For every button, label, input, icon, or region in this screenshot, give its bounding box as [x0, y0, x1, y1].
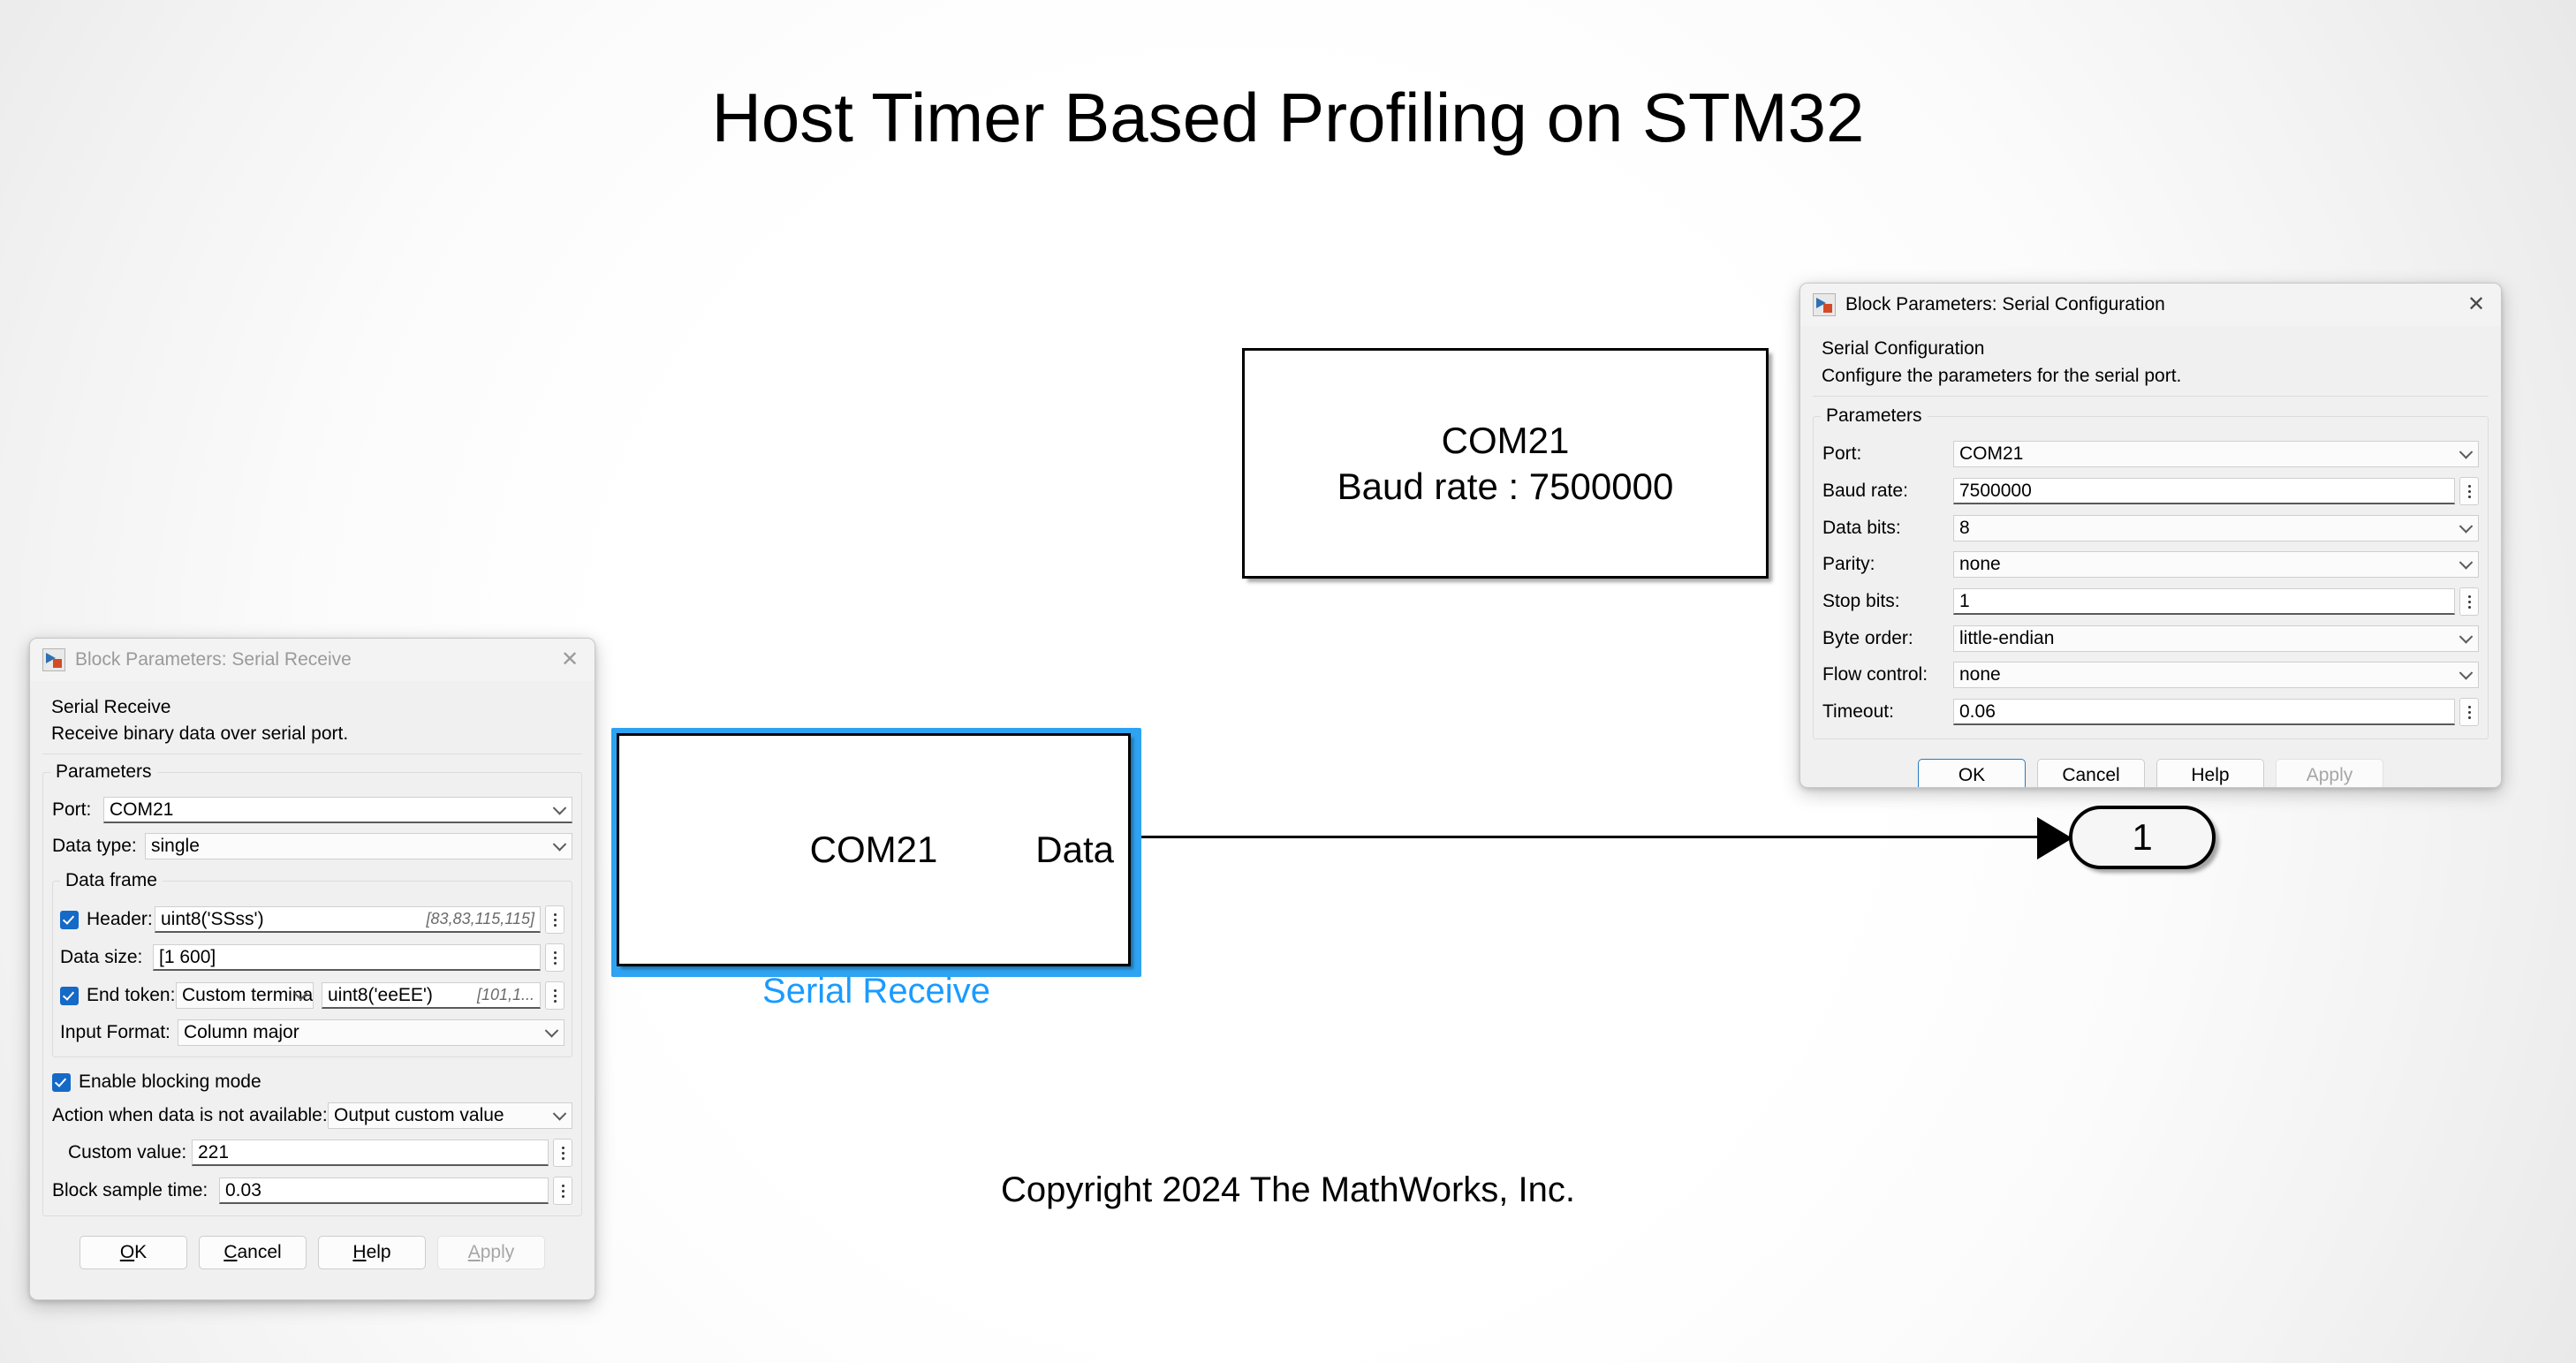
chevron-down-icon: [553, 801, 567, 815]
custom-value-more-button[interactable]: [553, 1139, 572, 1167]
end-token-mode-combobox[interactable]: Custom terminator: [176, 982, 314, 1009]
input-format-value: Column major: [184, 1022, 299, 1043]
dialog-serial-receive-titlebar[interactable]: Block Parameters: Serial Receive ✕: [30, 639, 595, 681]
enable-blocking-label: Enable blocking mode: [79, 1071, 261, 1093]
block-serial-receive-output-port-label: Data: [1035, 829, 1114, 871]
parameters-group: Parameters Port: COM21 Data type: single…: [42, 772, 582, 1216]
data-frame-group: Data frame Header: uint8('SSss') [83,83,…: [52, 881, 572, 1057]
header-value: uint8('SSss'): [161, 909, 264, 930]
block-description-text: Configure the parameters for the serial …: [1822, 366, 2480, 387]
chevron-down-icon: [2459, 556, 2474, 570]
block-outport-number: 1: [2132, 816, 2152, 859]
byte-order-combobox[interactable]: little-endian: [1953, 625, 2479, 652]
parity-value: none: [1959, 554, 2001, 575]
data-bits-value: 8: [1959, 518, 1970, 539]
row-enable-blocking: Enable blocking mode: [52, 1071, 572, 1093]
port-label: Port:: [52, 799, 103, 821]
stop-bits-label: Stop bits:: [1822, 591, 1953, 612]
parameters-legend: Parameters: [1821, 405, 1928, 427]
baud-rate-value: 7500000: [1959, 481, 2032, 502]
end-token-value: uint8('eeEE'): [328, 985, 433, 1006]
block-description-name: Serial Receive: [51, 697, 573, 718]
row-input-format: Input Format: Column major: [60, 1019, 564, 1046]
dialog-serial-configuration-buttons: OK Cancel Help Apply: [1813, 746, 2489, 788]
model-title: Host Timer Based Profiling on STM32: [0, 78, 2576, 158]
sample-time-input[interactable]: 0.03: [219, 1177, 549, 1204]
sample-time-more-button[interactable]: [553, 1177, 572, 1205]
block-description-text: Receive binary data over serial port.: [51, 723, 573, 745]
row-byte-order: Byte order: little-endian: [1822, 625, 2479, 652]
port-combobox[interactable]: COM21: [1953, 441, 2479, 467]
end-token-label: End token:: [87, 985, 176, 1006]
custom-value: 221: [198, 1142, 229, 1163]
header-checkbox[interactable]: [60, 911, 79, 929]
timeout-value: 0.06: [1959, 701, 1996, 723]
stop-bits-more-button[interactable]: [2459, 587, 2479, 616]
header-more-button[interactable]: [545, 905, 564, 934]
baud-rate-input[interactable]: 7500000: [1953, 478, 2455, 504]
cancel-button-rest: ancel: [237, 1242, 281, 1262]
action-label: Action when data is not available:: [52, 1105, 328, 1126]
baud-rate-label: Baud rate:: [1822, 481, 1953, 502]
chevron-down-icon: [2459, 445, 2474, 459]
data-bits-label: Data bits:: [1822, 518, 1953, 539]
byte-order-value: little-endian: [1959, 628, 2054, 649]
ok-button[interactable]: OK: [80, 1236, 187, 1269]
byte-order-label: Byte order:: [1822, 628, 1953, 649]
row-data-bits: Data bits: 8: [1822, 515, 2479, 541]
signal-arrow-icon: [2037, 817, 2072, 859]
block-serial-receive-label: Serial Receive: [611, 972, 1141, 1011]
custom-value-label: Custom value:: [52, 1142, 192, 1163]
timeout-input[interactable]: 0.06: [1953, 699, 2455, 725]
sample-time-label: Block sample time:: [52, 1180, 219, 1201]
port-label: Port:: [1822, 443, 1953, 465]
help-button-rest: elp: [367, 1242, 391, 1262]
chevron-down-icon: [545, 1024, 559, 1038]
dialog-serial-receive-title: Block Parameters: Serial Receive: [75, 649, 352, 670]
block-serial-configuration-line1: COM21: [1442, 418, 1570, 463]
parameters-group: Parameters Port: COM21 Baud rate: 750000…: [1813, 416, 2489, 739]
input-format-combobox[interactable]: Column major: [178, 1019, 564, 1046]
flow-control-value: none: [1959, 664, 2001, 685]
port-value: COM21: [1959, 443, 2023, 465]
help-button[interactable]: Help: [318, 1236, 426, 1269]
ok-button-rest: K: [134, 1242, 147, 1262]
data-frame-legend: Data frame: [60, 870, 163, 891]
input-format-label: Input Format:: [60, 1022, 178, 1043]
header-label: Header:: [87, 909, 155, 930]
timeout-label: Timeout:: [1822, 701, 1953, 723]
block-outport[interactable]: 1: [2069, 806, 2216, 869]
block-serial-receive[interactable]: COM21 Data: [617, 733, 1131, 966]
flow-control-combobox[interactable]: none: [1953, 662, 2479, 688]
help-button[interactable]: Help: [2156, 759, 2264, 788]
row-timeout: Timeout: 0.06: [1822, 698, 2479, 726]
data-size-more-button[interactable]: [545, 943, 564, 972]
sample-time-value: 0.03: [225, 1180, 261, 1201]
end-token-checkbox[interactable]: [60, 987, 79, 1005]
data-type-value: single: [151, 836, 200, 857]
block-description-group: Serial Receive Receive binary data over …: [42, 692, 582, 754]
flow-control-label: Flow control:: [1822, 664, 1953, 685]
row-port: Port: COM21: [52, 797, 572, 823]
block-serial-configuration[interactable]: COM21 Baud rate : 7500000: [1242, 348, 1769, 579]
header-input[interactable]: uint8('SSss') [83,83,115,115]: [155, 906, 541, 933]
row-end-token: End token: Custom terminator uint8('eeEE…: [60, 981, 564, 1010]
custom-value-input[interactable]: 221: [192, 1140, 549, 1166]
parity-combobox[interactable]: none: [1953, 551, 2479, 578]
dialog-serial-configuration-titlebar[interactable]: Block Parameters: Serial Configuration ✕: [1800, 284, 2501, 326]
row-port: Port: COM21: [1822, 441, 2479, 467]
block-serial-configuration-line2: Baud rate : 7500000: [1337, 464, 1674, 509]
baud-rate-more-button[interactable]: [2459, 477, 2479, 505]
row-sample-time: Block sample time: 0.03: [52, 1177, 572, 1205]
action-combobox[interactable]: Output custom value: [328, 1102, 572, 1129]
enable-blocking-checkbox[interactable]: [52, 1073, 71, 1092]
close-icon[interactable]: ✕: [545, 639, 595, 681]
row-action-not-available: Action when data is not available: Outpu…: [52, 1102, 572, 1129]
ok-button[interactable]: OK: [1918, 759, 2026, 788]
parity-label: Parity:: [1822, 554, 1953, 575]
dialog-serial-receive[interactable]: Block Parameters: Serial Receive ✕ Seria…: [29, 638, 595, 1300]
block-serial-receive-selection[interactable]: COM21 Data: [611, 728, 1141, 977]
simulink-icon: [42, 648, 65, 671]
end-token-mode-value: Custom terminator: [182, 985, 314, 1006]
chevron-down-icon: [553, 1107, 567, 1121]
row-data-type: Data type: single: [52, 833, 572, 859]
row-header: Header: uint8('SSss') [83,83,115,115]: [60, 905, 564, 934]
port-value: COM21: [110, 799, 173, 821]
data-size-value: [1 600]: [159, 947, 216, 968]
data-bits-combobox[interactable]: 8: [1953, 515, 2479, 541]
cancel-button[interactable]: Cancel: [199, 1236, 307, 1269]
apply-button-rest: pply: [481, 1242, 515, 1262]
signal-line[interactable]: [1141, 836, 2042, 838]
row-data-size: Data size: [1 600]: [60, 943, 564, 972]
data-size-label: Data size:: [60, 947, 153, 968]
row-parity: Parity: none: [1822, 551, 2479, 578]
data-type-label: Data type:: [52, 836, 145, 857]
dialog-serial-receive-buttons: OK Cancel Help Apply: [42, 1223, 582, 1283]
end-token-more-button[interactable]: [545, 981, 564, 1010]
end-token-hint: [101,1...: [470, 986, 534, 1004]
header-hint: [83,83,115,115]: [420, 910, 534, 928]
close-icon[interactable]: ✕: [2451, 284, 2501, 326]
action-value: Output custom value: [334, 1105, 504, 1126]
data-size-input[interactable]: [1 600]: [153, 944, 541, 971]
chevron-down-icon: [2459, 666, 2474, 680]
row-stop-bits: Stop bits: 1: [1822, 587, 2479, 616]
simulink-icon: [1813, 293, 1836, 316]
apply-button: Apply: [437, 1236, 545, 1269]
dialog-serial-receive-body: Serial Receive Receive binary data over …: [30, 692, 595, 1283]
apply-button: Apply: [2276, 759, 2383, 788]
end-token-input[interactable]: uint8('eeEE') [101,1...: [322, 982, 541, 1009]
row-baud-rate: Baud rate: 7500000: [1822, 477, 2479, 505]
data-type-combobox[interactable]: single: [145, 833, 572, 859]
block-description-name: Serial Configuration: [1822, 338, 2480, 360]
stop-bits-value: 1: [1959, 591, 1970, 612]
chevron-down-icon: [2459, 519, 2474, 534]
dialog-serial-configuration[interactable]: Block Parameters: Serial Configuration ✕…: [1799, 283, 2502, 788]
timeout-more-button[interactable]: [2459, 698, 2479, 726]
cancel-button[interactable]: Cancel: [2037, 759, 2145, 788]
parameters-legend: Parameters: [50, 761, 157, 783]
stop-bits-input[interactable]: 1: [1953, 588, 2455, 615]
dialog-serial-configuration-title: Block Parameters: Serial Configuration: [1845, 294, 2165, 315]
chevron-down-icon: [2459, 630, 2474, 644]
dialog-serial-configuration-body: Serial Configuration Configure the param…: [1800, 335, 2501, 788]
port-combobox[interactable]: COM21: [103, 797, 572, 823]
block-description-group: Serial Configuration Configure the param…: [1813, 335, 2489, 397]
chevron-down-icon: [553, 837, 567, 852]
row-custom-value: Custom value: 221: [52, 1139, 572, 1167]
row-flow-control: Flow control: none: [1822, 662, 2479, 688]
